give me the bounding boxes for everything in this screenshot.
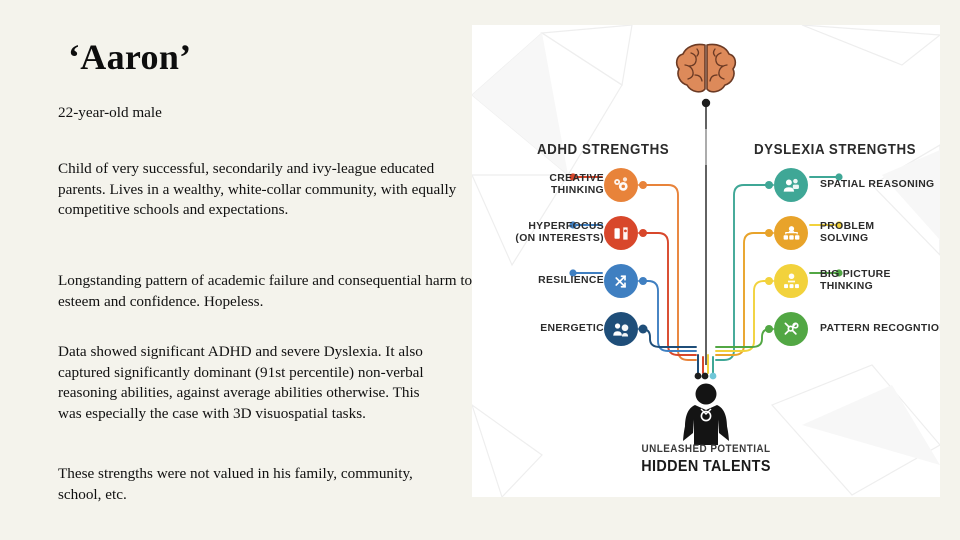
superhero-silhouette-icon — [677, 383, 735, 445]
pattern-recognition-icon — [774, 312, 808, 346]
strength-label: CREATIVE THINKING — [484, 165, 604, 205]
footer-caption-small: UNLEASHED POTENTIAL — [495, 443, 916, 455]
paragraph-academic-pattern: Longstanding pattern of academic failure… — [58, 271, 473, 312]
strength-item-creative-thinking[interactable]: CREATIVE THINKING — [472, 165, 652, 205]
strength-item-pattern-recognition[interactable]: PATTERN RECOGNTION — [760, 309, 940, 349]
strength-item-hyperfocus[interactable]: HYPERFOCUS (ON INTERESTS) — [472, 213, 652, 253]
arrows-resilience-icon — [604, 264, 638, 298]
strength-item-energetic[interactable]: ENERGETIC — [472, 309, 652, 349]
strength-label: RESILIENCE — [484, 261, 604, 301]
paragraph-family-background: Child of very successful, secondarily an… — [58, 159, 468, 221]
big-picture-icon — [774, 264, 808, 298]
problem-solving-icon — [774, 216, 808, 250]
strength-label: ENERGETIC — [484, 309, 604, 349]
strength-item-resilience[interactable]: RESILIENCE — [472, 261, 652, 301]
paragraph-age: 22-year-old male — [58, 103, 468, 124]
strength-label: PATTERN RECOGNTION — [820, 309, 940, 349]
brain-icon — [673, 41, 739, 97]
focus-person-icon — [604, 216, 638, 250]
strength-label: SPATIAL REASONING — [820, 165, 940, 205]
strength-item-big-picture-thinking[interactable]: BIG PICTURE THINKING — [760, 261, 940, 301]
strength-item-spatial-reasoning[interactable]: SPATIAL REASONING — [760, 165, 940, 205]
gears-lightbulb-icon — [604, 168, 638, 202]
presentation-slide: ‘Aaron’ 22-year-old male Child of very s… — [0, 0, 960, 540]
strength-label: HYPERFOCUS (ON INTERESTS) — [474, 213, 604, 253]
strength-item-problem-solving[interactable]: PROBLEM SOLVING — [760, 213, 940, 253]
column-heading-adhd: ADHD STRENGTHS — [537, 142, 669, 158]
column-heading-dyslexia: DYSLEXIA STRENGTHS — [754, 142, 916, 158]
paragraph-assessment-data: Data showed significant ADHD and severe … — [58, 342, 443, 424]
page-title: ‘Aaron’ — [68, 36, 191, 78]
spatial-people-icon — [774, 168, 808, 202]
energetic-people-icon — [604, 312, 638, 346]
strength-label: PROBLEM SOLVING — [820, 213, 940, 253]
paragraph-strengths-not-valued: These strengths were not valued in his f… — [58, 464, 458, 505]
strength-label: BIG PICTURE THINKING — [820, 261, 940, 301]
footer-caption-large: HIDDEN TALENTS — [495, 458, 916, 476]
strengths-infographic: ADHD STRENGTHS DYSLEXIA STRENGTHS CREATI… — [472, 25, 940, 497]
slide-text-column: ‘Aaron’ 22-year-old male Child of very s… — [0, 0, 470, 540]
